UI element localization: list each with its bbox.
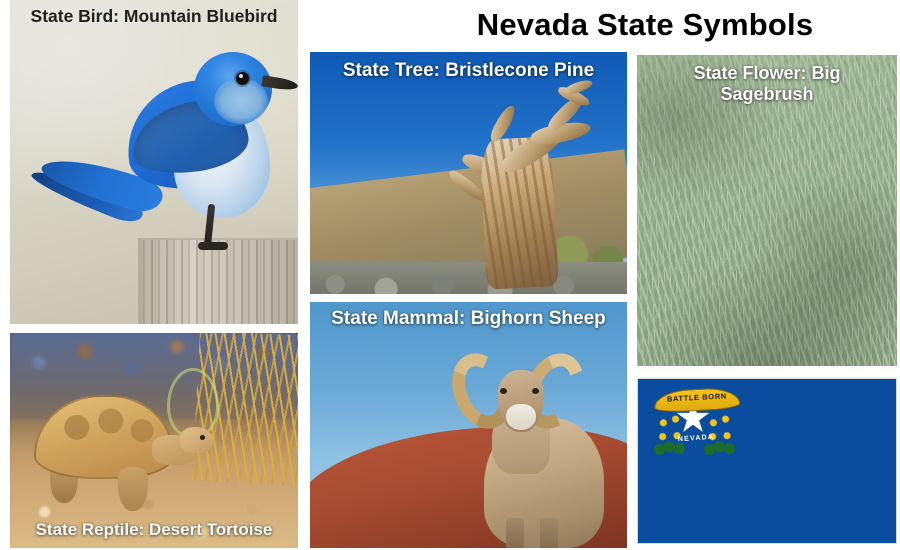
tortoise-shape	[34, 395, 214, 515]
bluebird-photo	[10, 0, 298, 324]
page-title: Nevada State Symbols	[390, 2, 900, 48]
battle-born-text: BATTLE BORN	[655, 391, 739, 404]
bristlecone-pine-photo	[310, 52, 627, 294]
card-caption-state-bird: State Bird: Mountain Bluebird	[10, 6, 298, 27]
card-nevada-flag[interactable]: BATTLE BORN NEVADA	[637, 378, 897, 544]
pine-tree-shape	[439, 73, 603, 288]
card-state-mammal[interactable]: State Mammal: Bighorn Sheep	[310, 302, 627, 548]
flag-emblem: BATTLE BORN NEVADA	[650, 385, 742, 469]
card-state-flower[interactable]: State Flower: Big Sagebrush	[637, 55, 897, 366]
bluebird-shape	[102, 28, 282, 258]
bighorn-sheep-photo	[310, 302, 627, 548]
poster-canvas: Nevada State Symbols State Bird: Mountai…	[0, 0, 900, 550]
card-caption-state-flower: State Flower: Big Sagebrush	[637, 63, 897, 105]
card-state-reptile[interactable]: State Reptile: Desert Tortoise	[10, 333, 298, 548]
card-state-bird[interactable]: State Bird: Mountain Bluebird	[10, 0, 298, 324]
bird-eye-shape	[236, 72, 249, 85]
card-caption-state-mammal: State Mammal: Bighorn Sheep	[310, 308, 627, 330]
card-state-tree[interactable]: State Tree: Bristlecone Pine	[310, 52, 627, 294]
card-caption-state-tree: State Tree: Bristlecone Pine	[310, 60, 627, 82]
desert-tortoise-photo	[10, 333, 298, 548]
card-caption-state-reptile: State Reptile: Desert Tortoise	[10, 520, 298, 540]
bighorn-sheep-shape	[448, 346, 618, 548]
